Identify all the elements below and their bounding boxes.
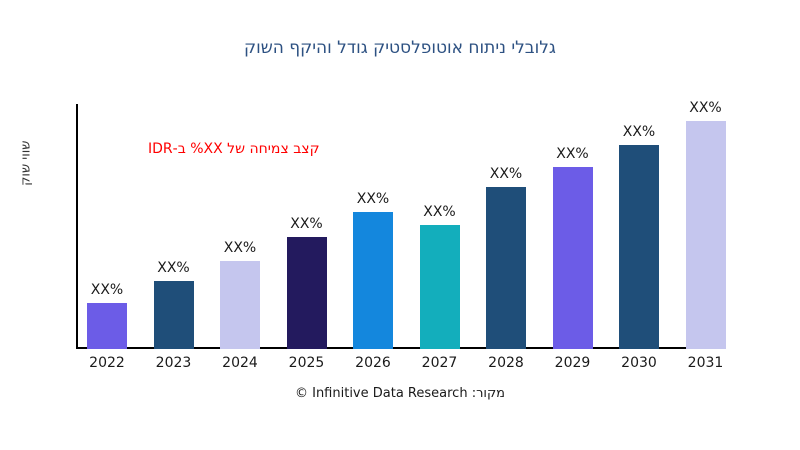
x-tick-2028: 2028: [475, 355, 537, 371]
bar[interactable]: [87, 303, 127, 349]
bar-value-label: XX%: [143, 260, 205, 276]
bar[interactable]: [686, 121, 726, 349]
x-tick-2029: 2029: [542, 355, 604, 371]
bar[interactable]: [553, 167, 593, 349]
bar-group-2026[interactable]: XX%: [342, 104, 404, 349]
bar-value-label: XX%: [209, 240, 271, 256]
y-axis-label: שווי שוק: [19, 141, 34, 165]
bar-group-2031[interactable]: XX%: [675, 104, 737, 349]
x-tick-2030: 2030: [608, 355, 670, 371]
bar[interactable]: [287, 237, 327, 349]
bar-value-label: XX%: [608, 124, 670, 140]
bar[interactable]: [420, 225, 460, 349]
bar[interactable]: [154, 281, 194, 349]
page-title: גלובלי ניתוח אוטופלסטיק גודל והיקף השוק: [0, 38, 800, 58]
bar-group-2029[interactable]: XX%: [542, 104, 604, 349]
bar-value-label: XX%: [675, 100, 737, 116]
x-tick-2031: 2031: [675, 355, 737, 371]
bar-group-2027[interactable]: XX%: [409, 104, 471, 349]
x-axis-tick-labels: 2022202320242025202620272028202920302031: [76, 355, 800, 377]
source-caption: מקור: Infinitive Data Research ©: [0, 386, 800, 401]
bar-value-label: XX%: [76, 282, 138, 298]
x-tick-2027: 2027: [409, 355, 471, 371]
bar[interactable]: [220, 261, 260, 349]
bar-value-label: XX%: [276, 216, 338, 232]
bar-group-2028[interactable]: XX%: [475, 104, 537, 349]
bar[interactable]: [486, 187, 526, 349]
x-tick-2023: 2023: [143, 355, 205, 371]
x-tick-2024: 2024: [209, 355, 271, 371]
x-tick-2026: 2026: [342, 355, 404, 371]
x-tick-2022: 2022: [76, 355, 138, 371]
bar-group-2030[interactable]: XX%: [608, 104, 670, 349]
bar[interactable]: [619, 145, 659, 349]
bar-value-label: XX%: [409, 204, 471, 220]
bar-series: XX%XX%XX%XX%XX%XX%XX%XX%XX%XX%: [76, 104, 800, 349]
bar-group-2023[interactable]: XX%: [143, 104, 205, 349]
bar[interactable]: [353, 212, 393, 349]
bar-value-label: XX%: [342, 191, 404, 207]
bar-group-2024[interactable]: XX%: [209, 104, 271, 349]
bar-value-label: XX%: [475, 166, 537, 182]
chart-page: גלובלי ניתוח אוטופלסטיק גודל והיקף השוק …: [0, 0, 800, 450]
bar-group-2022[interactable]: XX%: [76, 104, 138, 349]
x-tick-2025: 2025: [276, 355, 338, 371]
bar-value-label: XX%: [542, 146, 604, 162]
bar-group-2025[interactable]: XX%: [276, 104, 338, 349]
